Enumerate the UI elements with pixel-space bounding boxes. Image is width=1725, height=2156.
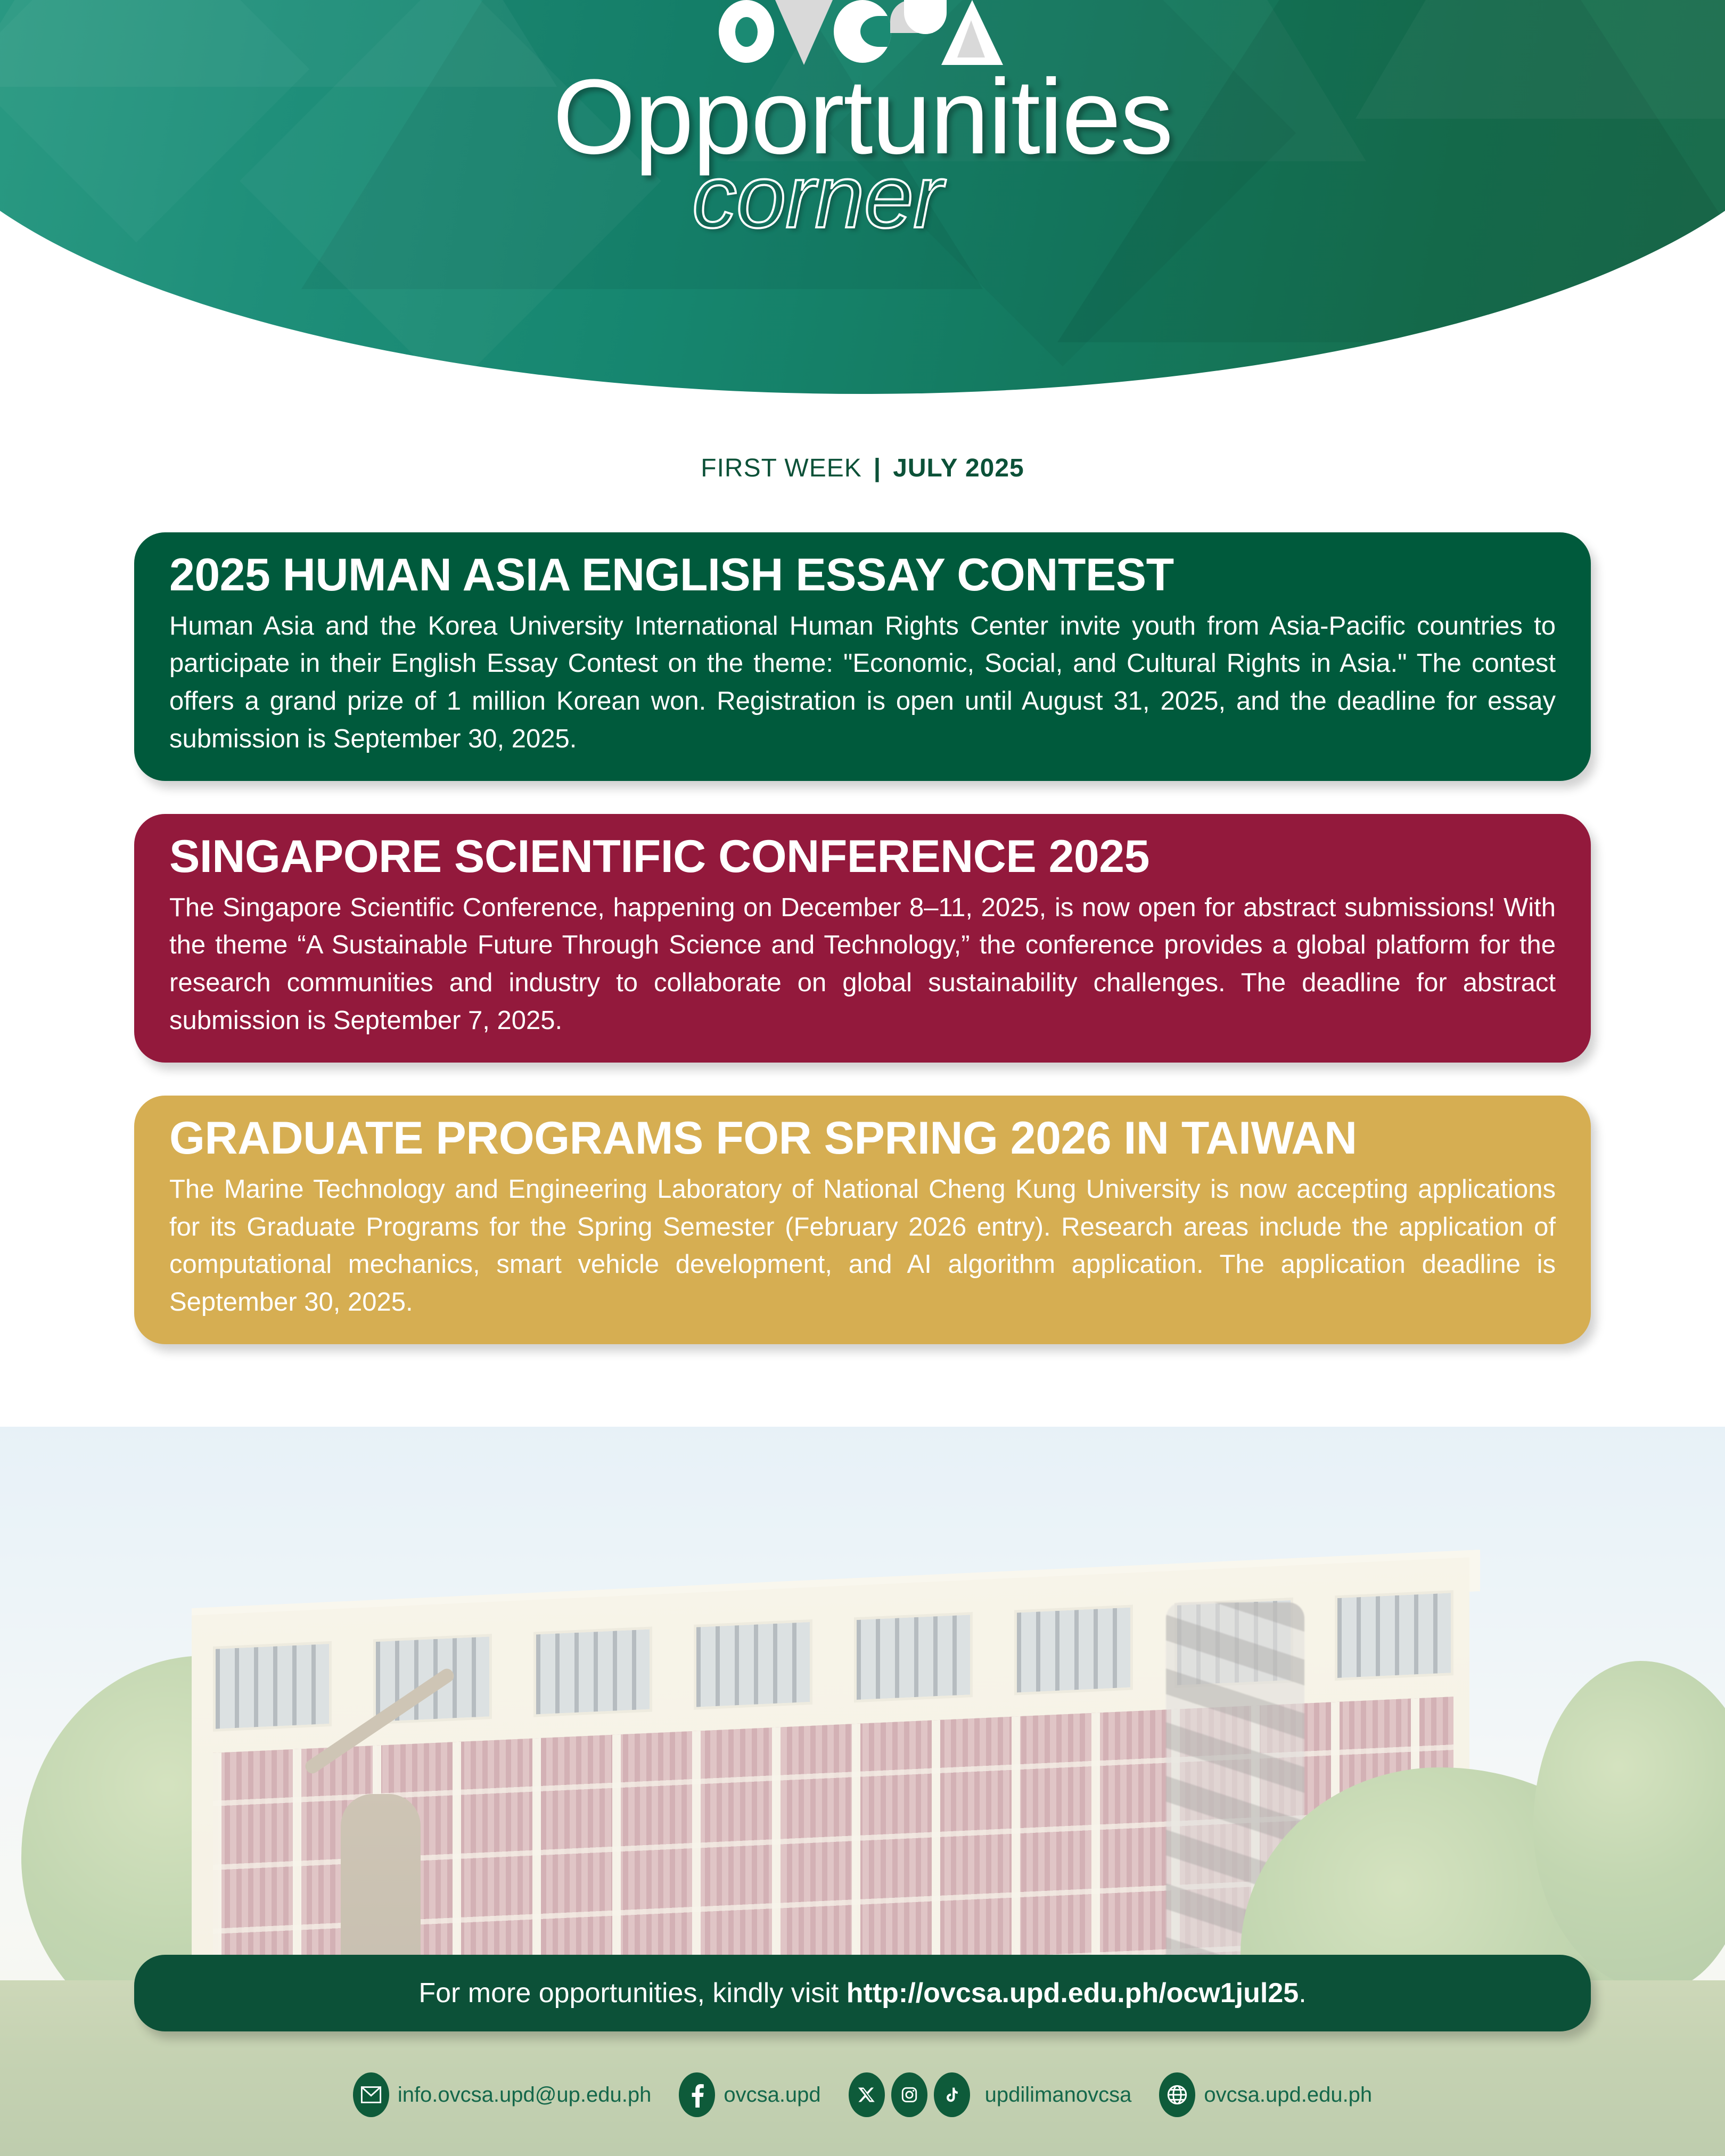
cta-banner[interactable]: For more opportunities, kindly visit htt… <box>134 1955 1591 2031</box>
footer-facebook-group[interactable]: ovcsa.upd <box>679 2072 848 2117</box>
campus-photo <box>0 1427 1725 2156</box>
dateline-separator: | <box>874 454 881 482</box>
opportunity-card[interactable]: 2025 HUMAN ASIA ENGLISH ESSAY CONTEST Hu… <box>134 532 1591 781</box>
issue-dateline: FIRST WEEK|JULY 2025 <box>0 454 1725 483</box>
logo-letter-a-counter <box>957 20 985 57</box>
footer-website-group[interactable]: ovcsa.upd.edu.ph <box>1159 2072 1372 2117</box>
card-body: The Marine Technology and Engineering La… <box>169 1171 1556 1321</box>
card-title: SINGAPORE SCIENTIFIC CONFERENCE 2025 <box>169 832 1556 882</box>
card-body: Human Asia and the Korea University Inte… <box>169 607 1556 758</box>
card-title: GRADUATE PROGRAMS FOR SPRING 2026 IN TAI… <box>169 1114 1556 1163</box>
poster-subtitle: corner <box>0 157 1725 237</box>
x-twitter-icon[interactable] <box>849 2072 885 2117</box>
facebook-icon[interactable] <box>679 2072 715 2117</box>
instagram-icon[interactable] <box>891 2072 927 2117</box>
footer-email-group[interactable]: info.ovcsa.upd@up.edu.ph <box>353 2072 679 2117</box>
ovcsa-logo <box>719 0 1006 64</box>
photo-overlay <box>0 1427 1725 2156</box>
footer-website-text: ovcsa.upd.edu.ph <box>1204 2083 1372 2107</box>
cta-prefix: For more opportunities, kindly visit <box>418 1978 846 2009</box>
footer-email-text: info.ovcsa.upd@up.edu.ph <box>398 2083 652 2107</box>
footer-facebook-text: ovcsa.upd <box>724 2083 820 2107</box>
social-icon-cluster <box>849 2072 976 2117</box>
logo-letter-v <box>775 0 833 65</box>
tiktok-icon[interactable] <box>934 2072 970 2117</box>
card-body: The Singapore Scientific Conference, hap… <box>169 889 1556 1039</box>
footer-contacts: info.ovcsa.upd@up.edu.ph ovcsa.upd <box>0 2066 1725 2124</box>
envelope-icon[interactable] <box>353 2072 389 2117</box>
dateline-month: JULY 2025 <box>893 454 1024 482</box>
logo-letter-o <box>719 0 774 63</box>
opportunity-card[interactable]: SINGAPORE SCIENTIFIC CONFERENCE 2025 The… <box>134 814 1591 1063</box>
cta-suffix: . <box>1299 1978 1306 2009</box>
cta-url[interactable]: http://ovcsa.upd.edu.ph/ocw1jul25 <box>847 1978 1299 2009</box>
dateline-week: FIRST WEEK <box>701 454 861 482</box>
logo-letter-c <box>834 0 891 63</box>
opportunity-cards: 2025 HUMAN ASIA ENGLISH ESSAY CONTEST Hu… <box>134 532 1591 1377</box>
opportunity-card[interactable]: GRADUATE PROGRAMS FOR SPRING 2026 IN TAI… <box>134 1096 1591 1344</box>
poster-header: Opportunities corner <box>0 0 1725 394</box>
footer-social-handle: updilimanovcsa <box>985 2083 1132 2107</box>
globe-icon[interactable] <box>1159 2072 1195 2117</box>
footer-social-group[interactable]: updilimanovcsa <box>849 2072 1160 2117</box>
card-title: 2025 HUMAN ASIA ENGLISH ESSAY CONTEST <box>169 550 1556 600</box>
